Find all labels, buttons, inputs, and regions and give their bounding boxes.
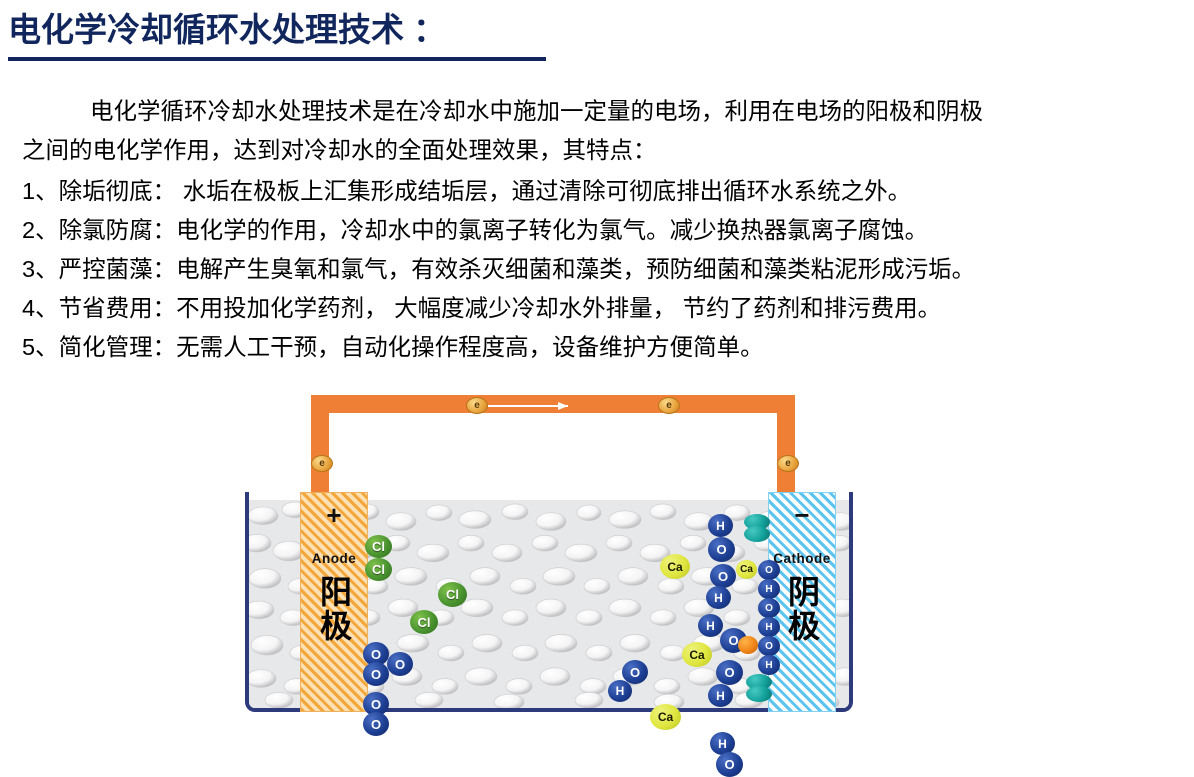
intro-line-2: 之间的电化学作用，达到对冷却水的全面处理效果，其特点： bbox=[22, 131, 1182, 170]
oxygen-ion: O bbox=[387, 652, 413, 676]
hydrogen-ion: H bbox=[698, 614, 723, 637]
oxygen-ion: O bbox=[363, 662, 389, 686]
electron-marker-icon: e bbox=[777, 455, 799, 472]
cathode-label-en: Cathode bbox=[769, 551, 835, 566]
oxygen-ion: O bbox=[716, 660, 743, 685]
electrochemical-cell-diagram: e e e e bbox=[238, 392, 864, 720]
page-title: 电化学冷却循环水处理技术 ： bbox=[8, 10, 568, 50]
hydrogen-ion: H bbox=[706, 586, 731, 609]
oxygen-ion: O bbox=[710, 564, 736, 588]
oxygen-ion: O bbox=[622, 660, 648, 684]
electron-marker-icon: e bbox=[658, 397, 680, 414]
anode-sign: + bbox=[301, 505, 367, 525]
anode-electrode[interactable]: + Anode 阳极 bbox=[300, 492, 368, 712]
feature-item-5: 5、简化管理：无需人工干预，自动化操作程度高，设备维护方便简单。 bbox=[22, 328, 1182, 367]
chloride-ion: Cl bbox=[365, 558, 392, 581]
electron-marker-icon: e bbox=[466, 397, 488, 414]
chloride-ion: Cl bbox=[365, 535, 392, 558]
hydrogen-ion: H bbox=[708, 514, 733, 537]
chloride-ion: Cl bbox=[410, 610, 438, 634]
hydrogen-ion: H bbox=[708, 684, 733, 707]
hydrogen-ion: H bbox=[758, 579, 780, 599]
intro-line-1: 电化学循环冷却水处理技术是在冷却水中施加一定量的电场，利用在电场的阳极和阴极 bbox=[22, 92, 1182, 131]
title-underline bbox=[8, 57, 546, 61]
hydrogen-ion: H bbox=[758, 655, 780, 675]
feature-item-1: 1、除垢彻底： 水垢在极板上汇集形成结垢层，通过清除可彻底排出循环水系统之外。 bbox=[22, 172, 1182, 211]
calcium-ion: Ca bbox=[682, 642, 712, 667]
page-title-block: 电化学冷却循环水处理技术 ： bbox=[8, 10, 568, 50]
hydrogen-ion: H bbox=[608, 680, 632, 702]
oxygen-ion: O bbox=[758, 560, 780, 580]
hydrogen-ion: H bbox=[758, 617, 780, 637]
anode-label-en: Anode bbox=[301, 551, 367, 566]
oxygen-ion: O bbox=[758, 598, 780, 618]
anode-label-cn-holder: 阳极 bbox=[301, 575, 367, 643]
calcium-ion: Ca bbox=[660, 554, 690, 579]
anode-label-cn: 阳极 bbox=[315, 575, 353, 643]
feature-item-4: 4、节省费用：不用投加化学药剂， 大幅度减少冷却水外排量， 节约了药剂和排污费用… bbox=[22, 289, 1182, 328]
calcium-ion: Ca bbox=[650, 704, 681, 730]
feature-list: 1、除垢彻底： 水垢在极板上汇集形成结垢层，通过清除可彻底排出循环水系统之外。 … bbox=[22, 172, 1182, 367]
gas-bubble bbox=[746, 686, 772, 702]
feature-item-3: 3、严控菌藻：电解产生臭氧和氯气，有效杀灭细菌和藻类，预防细菌和藻类粘泥形成污垢… bbox=[22, 250, 1182, 289]
body-text: 电化学循环冷却水处理技术是在冷却水中施加一定量的电场，利用在电场的阳极和阴极 之… bbox=[22, 92, 1182, 367]
oxygen-ion: O bbox=[708, 537, 735, 562]
oxygen-ion: O bbox=[363, 712, 389, 736]
cathode-label-cn: 阴极 bbox=[783, 575, 821, 643]
electron-marker-icon: e bbox=[311, 455, 333, 472]
oxygen-ion: O bbox=[758, 636, 780, 656]
slide-root: 电化学冷却循环水处理技术 ： 电化学循环冷却水处理技术是在冷却水中施加一定量的电… bbox=[0, 0, 1194, 720]
chloride-ion: Cl bbox=[438, 582, 467, 607]
feature-item-2: 2、除氯防腐：电化学的作用，冷却水中的氯离子转化为氯气。减少换热器氯离子腐蚀。 bbox=[22, 211, 1182, 250]
calcium-ion: Ca bbox=[736, 560, 757, 579]
orange-ion bbox=[738, 636, 758, 654]
oxygen-ion: O bbox=[716, 752, 743, 777]
gas-bubble bbox=[744, 526, 770, 542]
cathode-sign: − bbox=[769, 505, 835, 525]
